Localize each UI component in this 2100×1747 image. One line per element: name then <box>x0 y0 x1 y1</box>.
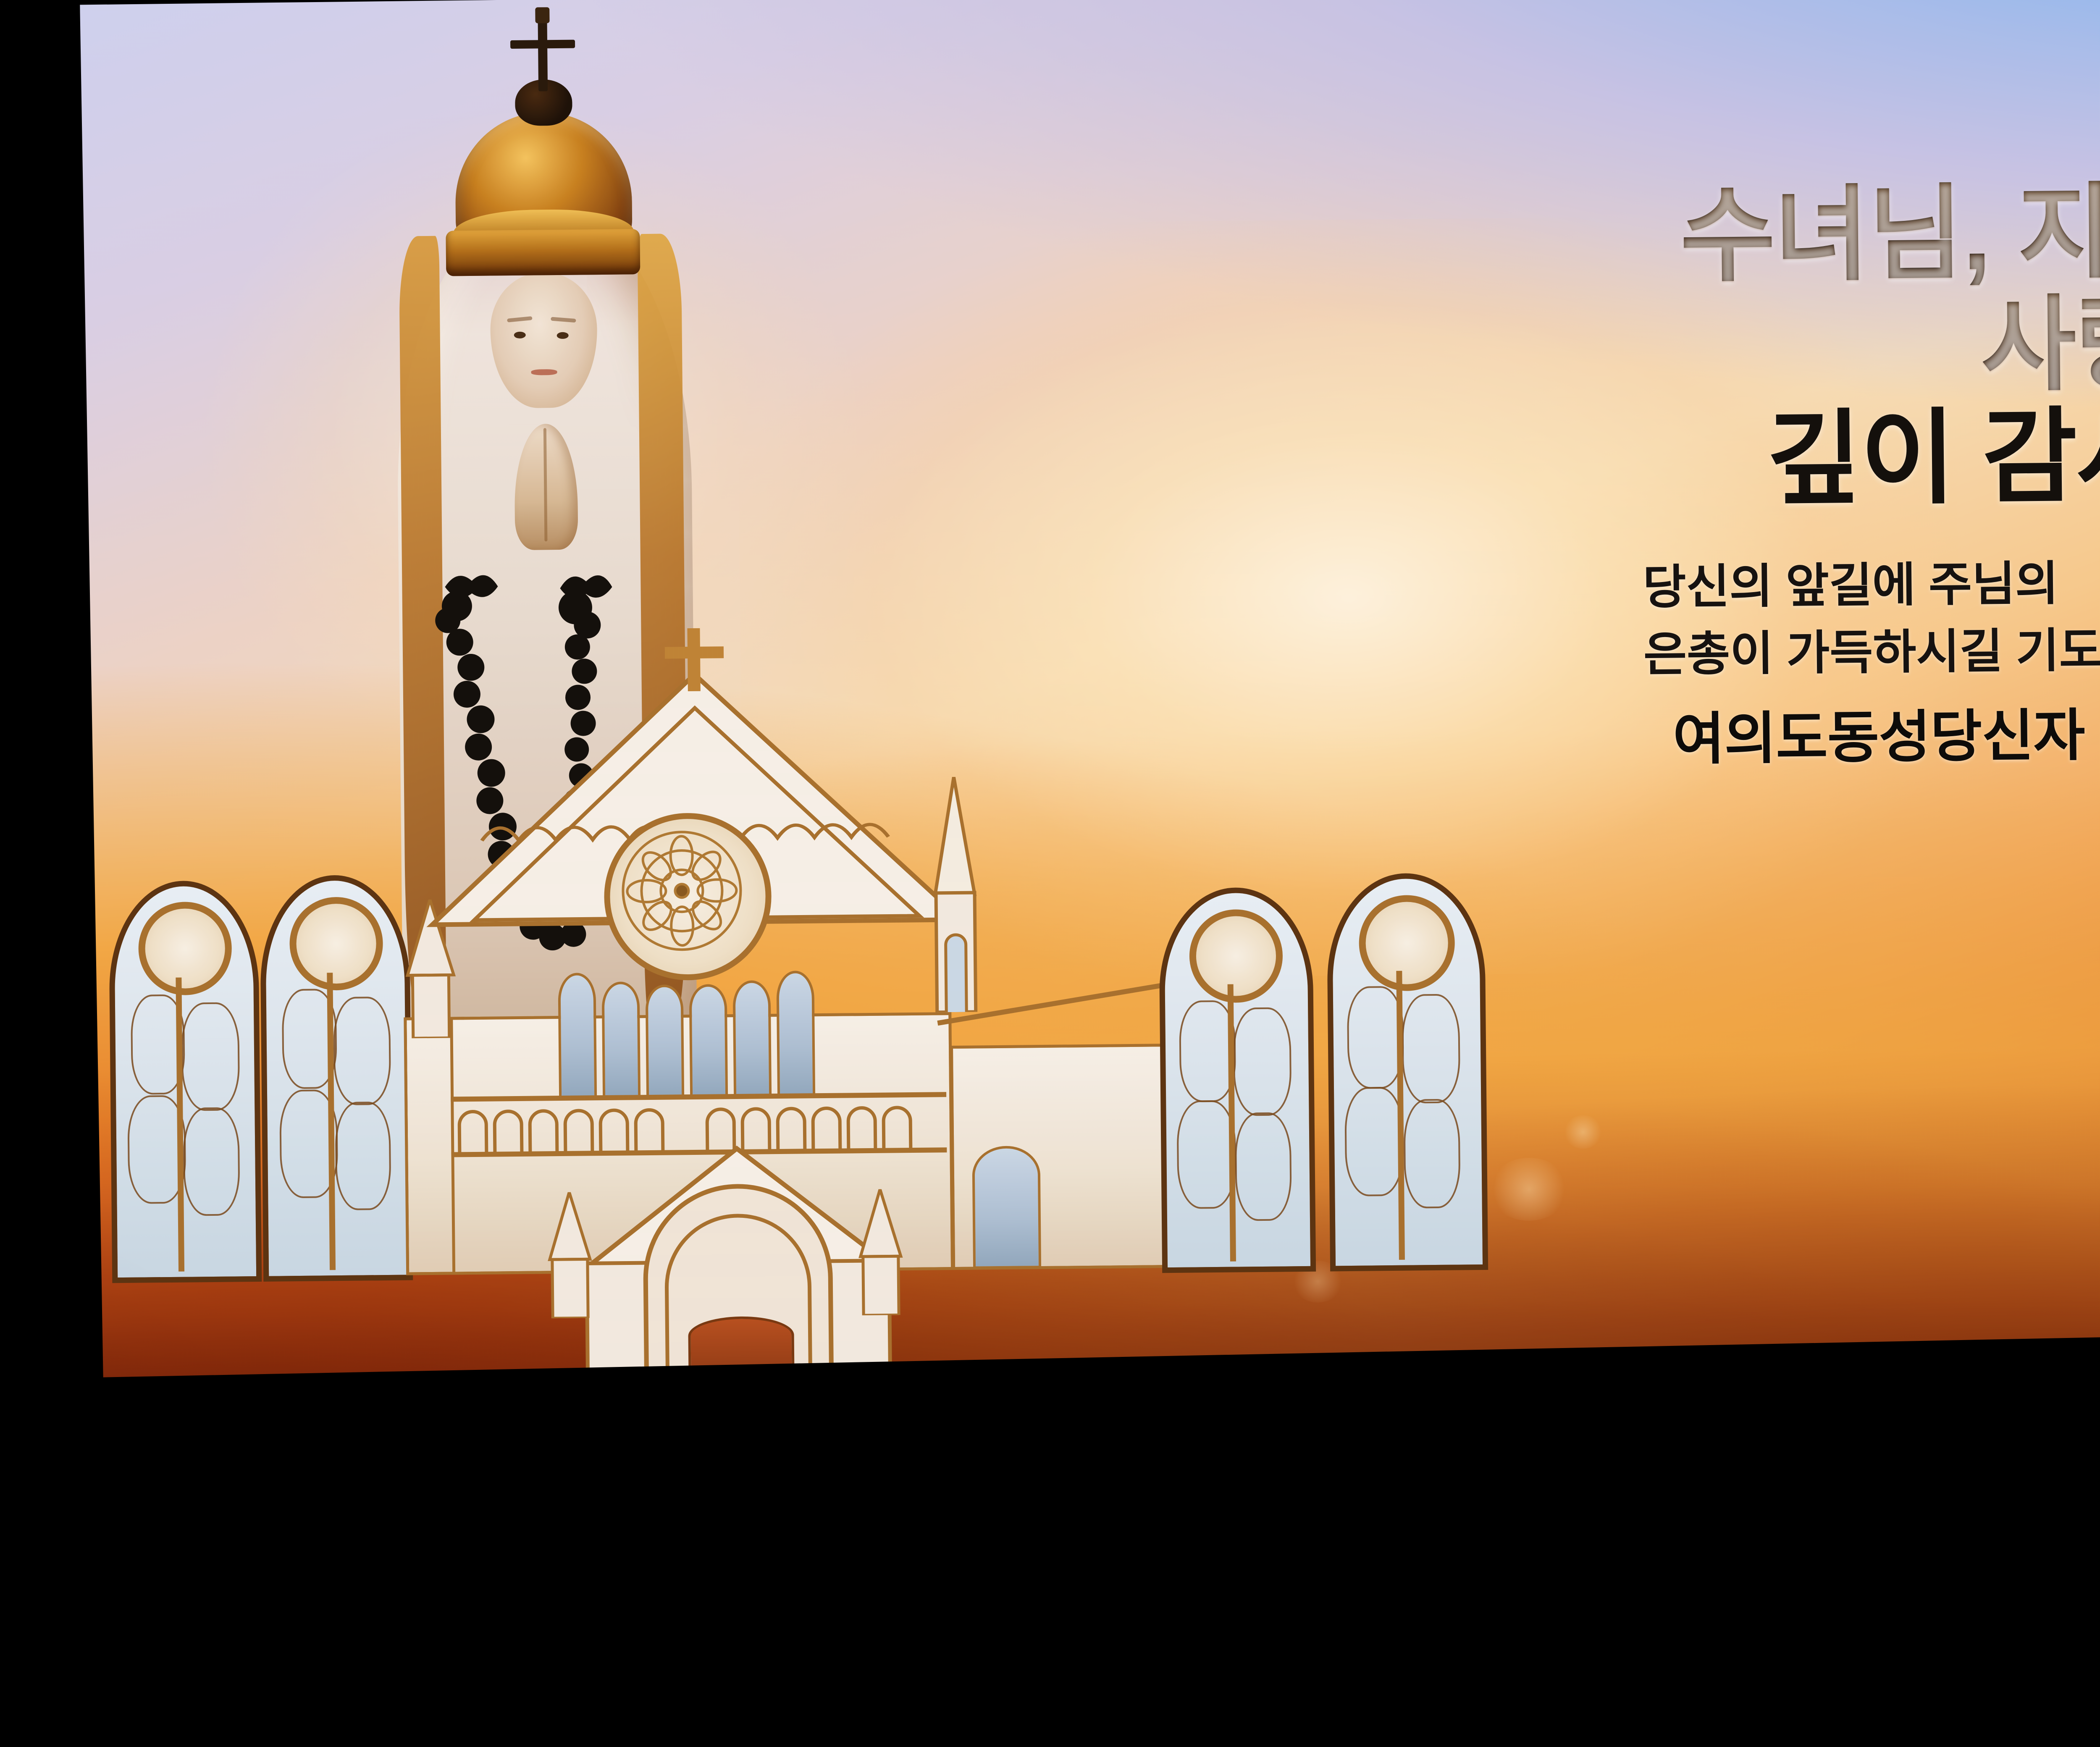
lancet-window <box>558 973 597 1100</box>
glass-cell <box>183 1107 240 1216</box>
photo-frame: 수녀님, 지난 3년간의 사랑과 헌신에 깊이 감사드립니다. 당신의 앞길에 … <box>0 0 2100 1747</box>
gothic-church-facade-illustration <box>81 595 1567 1386</box>
glass-cell <box>1347 986 1404 1089</box>
window-tracery-rosette <box>1359 895 1455 992</box>
projected-slide: 수녀님, 지난 3년간의 사랑과 헌신에 깊이 감사드립니다. 당신의 앞길에 … <box>75 0 2100 1386</box>
lancet-window <box>602 981 641 1099</box>
message-text-block: 수녀님, 지난 3년간의 사랑과 헌신에 깊이 감사드립니다. 당신의 앞길에 … <box>1496 173 2100 776</box>
signature-line: 여의도동성당신자 일동 <box>1672 698 2100 774</box>
glass-cell <box>181 1002 240 1111</box>
side-tower-spire <box>918 776 992 1013</box>
subtext-line-2: 은총이 가득하시길 기도합니다. <box>1643 614 2100 686</box>
porch-pinnacle <box>855 1189 906 1315</box>
subtext-line-1: 당신의 앞길에 주님의 <box>1643 547 2100 619</box>
glass-cell <box>1344 1087 1404 1196</box>
glass-cell <box>1233 1007 1291 1116</box>
lancet-window <box>776 971 815 1098</box>
glass-cell <box>1176 1100 1236 1209</box>
window-tracery-rosette <box>1189 909 1283 1003</box>
headline-line-3: 깊이 감사드립니다. <box>1498 397 2100 517</box>
headline-line-1: 수녀님, 지난 3년간의 <box>1496 173 2100 293</box>
glass-cell <box>333 997 391 1105</box>
crown-band <box>446 229 640 276</box>
headline-line-2: 사랑과 헌신에 <box>1497 286 2100 405</box>
lancet-window <box>689 984 728 1099</box>
glass-cell <box>335 1102 391 1210</box>
crown-cross-horizontal <box>510 40 575 49</box>
glass-cell <box>1403 1099 1460 1208</box>
nave-lancet-window <box>972 1146 1041 1269</box>
rose-window-tracery <box>614 823 750 959</box>
crown-cross-vertical <box>538 16 548 91</box>
statue-face <box>490 272 598 408</box>
statue-mouth <box>531 369 557 375</box>
lancet-window <box>646 984 685 1099</box>
crown-cross-finial-icon <box>535 7 549 23</box>
glass-cell <box>1402 994 1460 1103</box>
window-tracery-rosette <box>289 897 383 991</box>
glass-cell <box>1235 1112 1292 1221</box>
entrance-door <box>688 1316 795 1385</box>
porch-pinnacle <box>544 1192 596 1318</box>
lancet-window <box>732 980 772 1098</box>
window-tracery-rosette <box>138 902 232 996</box>
